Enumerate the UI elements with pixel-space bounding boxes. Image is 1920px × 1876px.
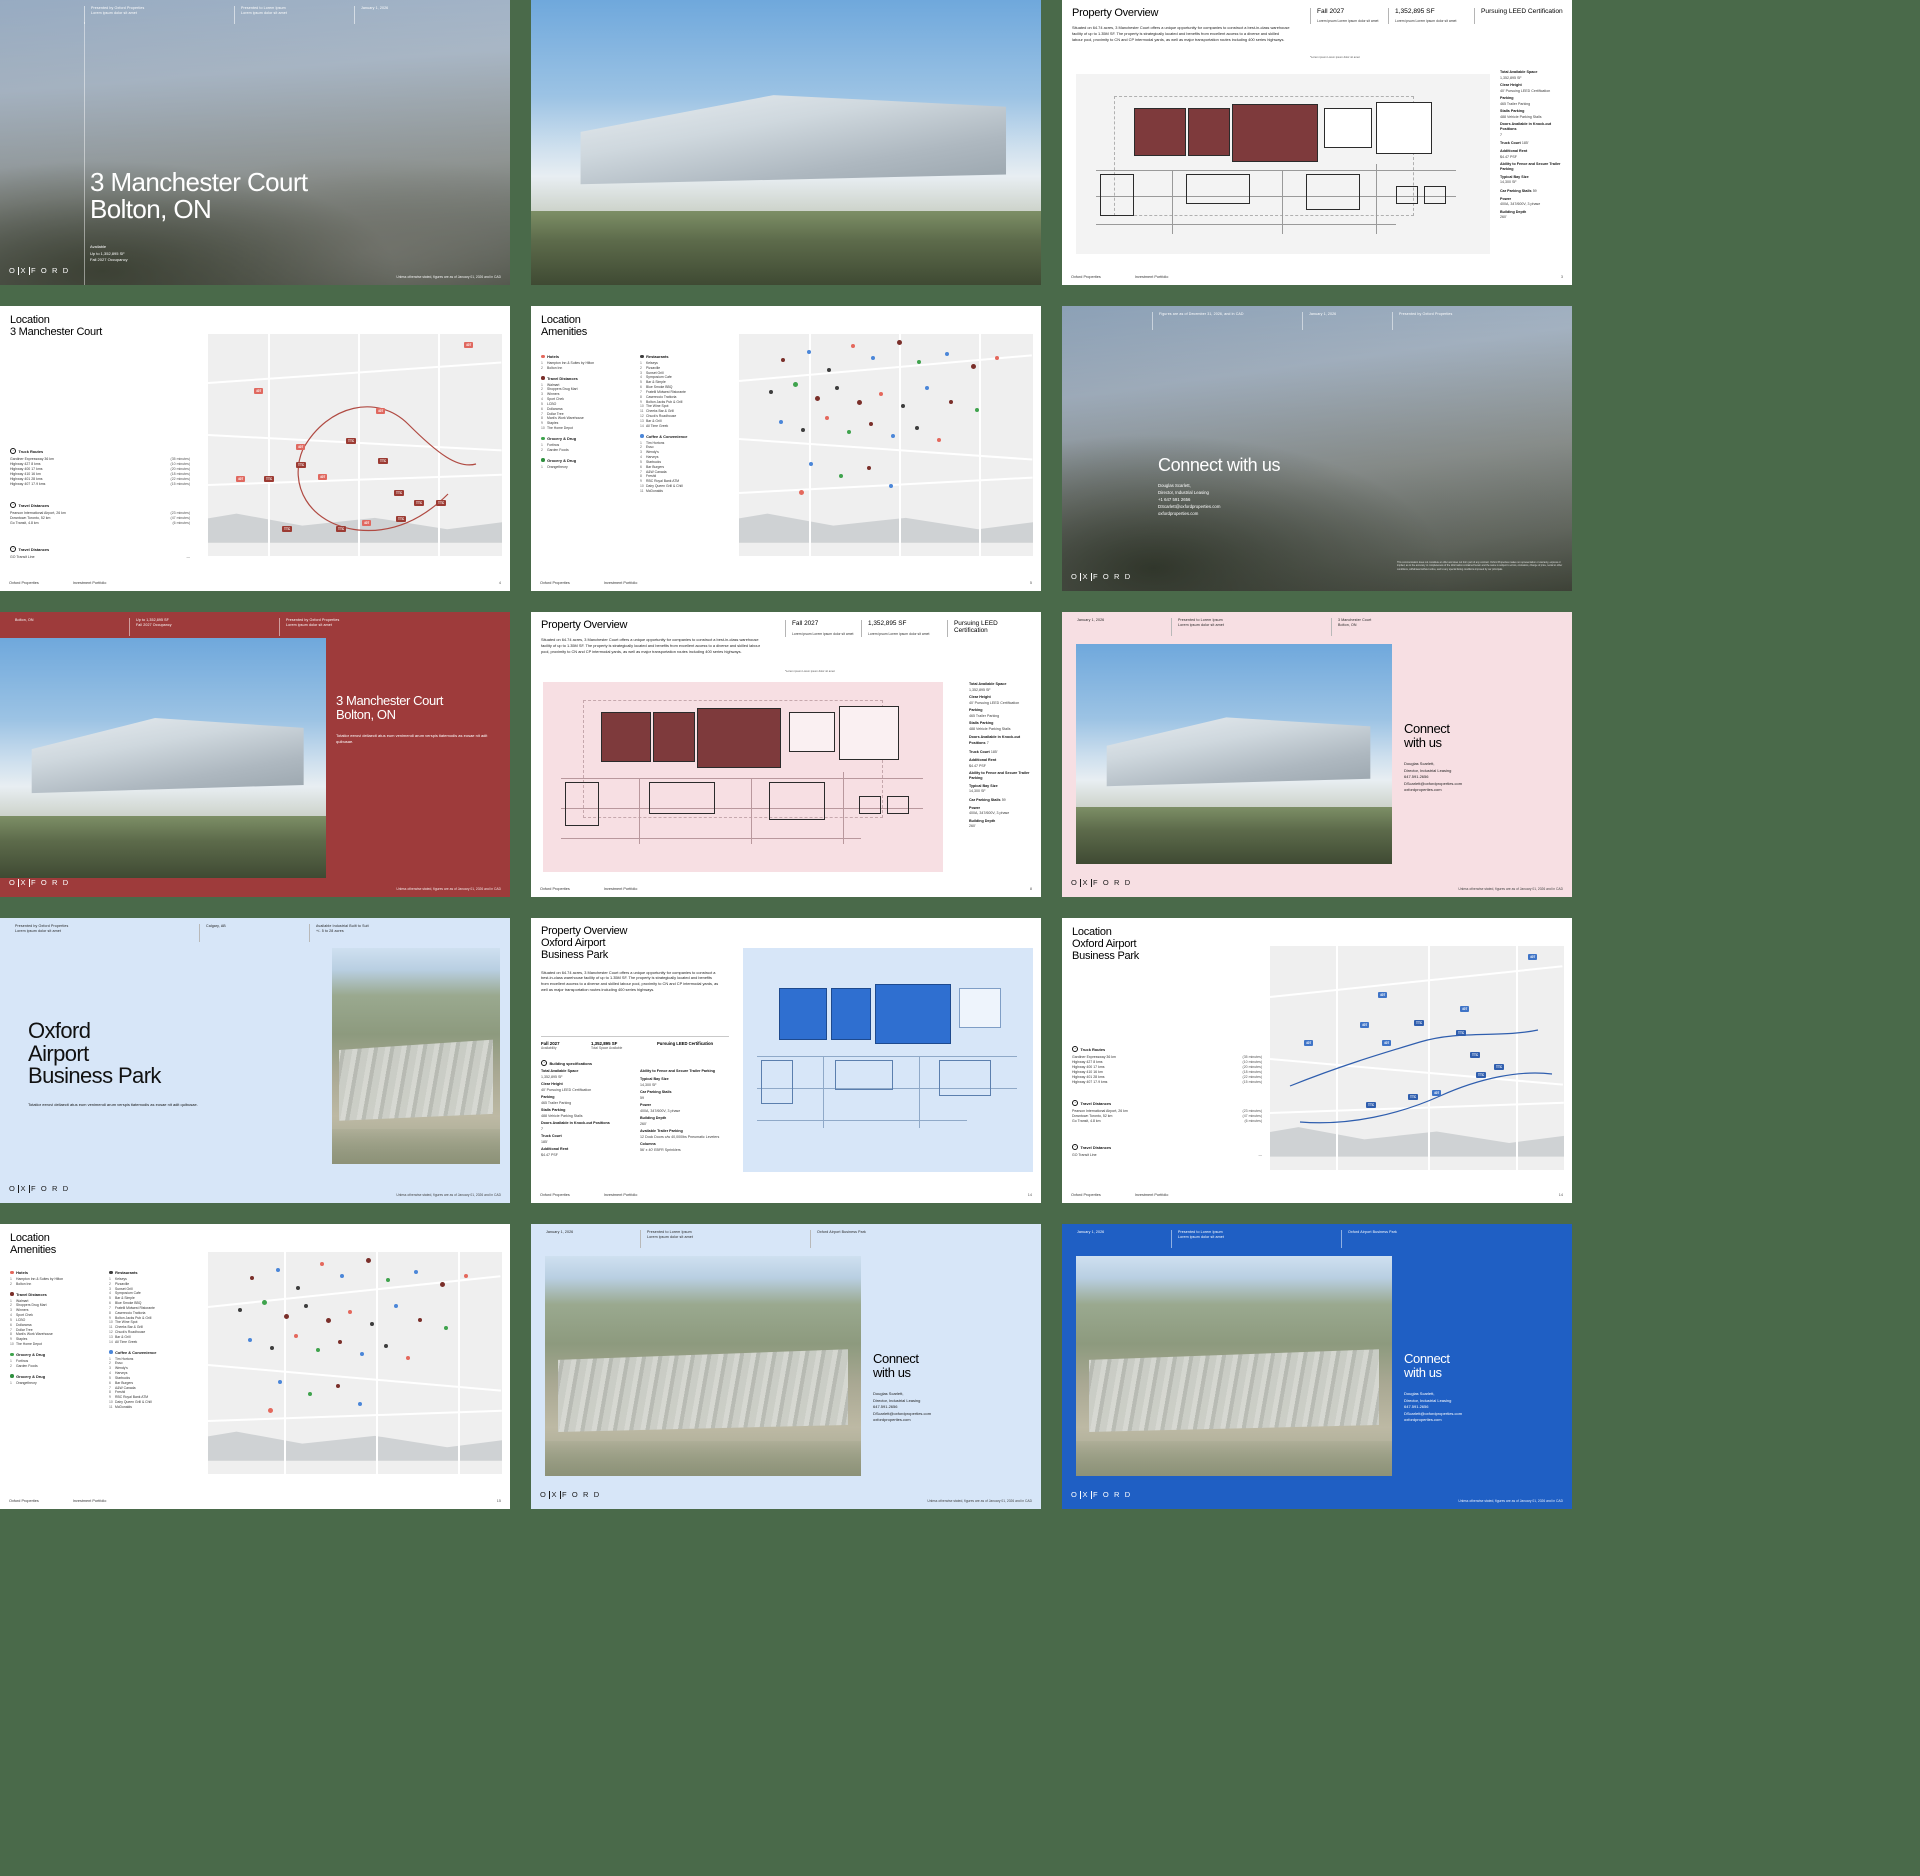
spec-value: 40' Pursuing LEED Certification xyxy=(541,1088,591,1092)
badge-ttc: TTC xyxy=(296,462,306,468)
route-name: GO Transit Line xyxy=(1072,1153,1097,1158)
amenity-map-dot[interactable] xyxy=(945,352,949,356)
amenity-map-dot[interactable] xyxy=(807,350,811,354)
spec-label: Doors Available in Knock-out Positions xyxy=(541,1121,632,1126)
legend-item-label: All Time Greek xyxy=(115,1340,137,1345)
spec-item: Parking465 Trailer Parking xyxy=(1500,96,1564,106)
slide-location-manchester[interactable]: Location 3 Manchester Court 407 407 407 … xyxy=(0,306,510,591)
amenity-map-dot[interactable] xyxy=(348,1310,352,1314)
legend-group-heading: Coffee & Convenience xyxy=(640,434,731,439)
spec-item: Typical Bay Size14,300 SF xyxy=(969,784,1033,794)
location-map[interactable]: 407 407 407 407 TTC TTC TTC 407 TTC 407 … xyxy=(208,334,502,556)
amenity-map-dot[interactable] xyxy=(937,438,941,442)
stat-footnote: *Lorem ipsum Lorem ipsum dolor sit amet xyxy=(1310,56,1360,59)
connect-title-line2: with us xyxy=(1404,736,1562,750)
badge-ttc: TTC xyxy=(414,500,424,506)
amenity-map-dot[interactable] xyxy=(995,356,999,360)
slide-grid: Presented by Oxford Properties Lorem ips… xyxy=(0,0,1920,1509)
route-time: (15 minutes) xyxy=(171,482,190,487)
badge-407: 407 xyxy=(1304,1040,1313,1046)
amenity-map-dot[interactable] xyxy=(248,1338,252,1342)
badge-407: 407 xyxy=(1528,954,1537,960)
legend-group-heading: Travel Distances xyxy=(10,1292,101,1297)
location-map[interactable]: 407 407 407 407 TTC TTC 407 407 TTC TTC … xyxy=(1270,946,1564,1170)
spec-label: Columns xyxy=(640,1142,731,1147)
amenity-map-dot[interactable] xyxy=(799,490,804,495)
legend-group-heading: Restaurants xyxy=(640,354,731,359)
spec-item: Columns56' x 40' EBFR Sprinklers xyxy=(640,1142,731,1152)
amenities-map[interactable] xyxy=(739,334,1033,556)
travel-distances-heading: → Travel Distances xyxy=(10,502,190,508)
badge-ttc: TTC xyxy=(396,516,406,522)
amenity-map-dot[interactable] xyxy=(250,1276,254,1280)
badge-407: 407 xyxy=(254,388,263,394)
legend-color-dot xyxy=(640,355,644,359)
route-time: — xyxy=(1259,1153,1263,1158)
badge-ttc: TTC xyxy=(1470,1052,1480,1058)
legend-color-dot xyxy=(541,458,545,462)
amenities-map[interactable] xyxy=(208,1252,502,1474)
property-tagline: Totatior eerovi deliaecti atus eum venim… xyxy=(336,733,500,745)
amenities-legend: Hotels1Hampton Inn & Suites by Hilton2Bo… xyxy=(541,354,731,499)
legend-item: 2Garden Foods xyxy=(10,1364,101,1369)
property-title-line1: 3 Manchester Court xyxy=(336,694,500,708)
legend-group: Coffee & Convenience1Tim Hortons2Esso3We… xyxy=(640,434,731,494)
spec-item: Total Available Space1,352,895 SF xyxy=(1500,70,1564,80)
slide-oxford-park-overview[interactable]: Property Overview Oxford Airport Busines… xyxy=(531,918,1041,1203)
slide-connect-hero[interactable]: Figures are as of December 31, 2026, and… xyxy=(1062,306,1572,591)
spec-item: Typical Bay Size14,300 SF xyxy=(1500,175,1564,185)
floorplan-diagram[interactable] xyxy=(743,948,1033,1172)
stat-leed-value: Pursuing LEED Certification xyxy=(1481,8,1564,15)
stat-leed: Pursuing LEED Certification xyxy=(947,620,1033,637)
badge-ttc: TTC xyxy=(346,438,356,444)
amenity-map-dot[interactable] xyxy=(386,1278,390,1282)
header-park: Oxford Airport Business Park xyxy=(1348,1230,1397,1235)
slide-footer: Oxford Properties Investment Portfolio 1… xyxy=(1071,1193,1563,1197)
badge-407: 407 xyxy=(1382,1040,1391,1046)
park-stat-row: Fall 2027 Availability 1,352,895 SF Tota… xyxy=(541,1036,729,1050)
oxford-logo[interactable]: OXF O R D xyxy=(1071,1490,1132,1499)
contact-role: Director, Industrial Leasing xyxy=(1158,490,1280,497)
spec-value: 260' xyxy=(640,1122,647,1126)
floorplan-diagram[interactable] xyxy=(543,682,943,872)
spec-label: Building Depth xyxy=(640,1116,731,1121)
badge-ttc: TTC xyxy=(336,526,346,532)
spec-item: Additional Rent$4.47 PSF xyxy=(1500,149,1564,159)
property-title-line2: Bolton, ON xyxy=(90,196,308,223)
amenity-map-dot[interactable] xyxy=(440,1282,445,1287)
park-title-line1: Oxford xyxy=(28,1020,318,1043)
legend-color-dot xyxy=(10,1353,14,1357)
amenity-map-dot[interactable] xyxy=(809,462,813,466)
amenity-map-dot[interactable] xyxy=(406,1356,410,1360)
slide-header: January 1, 2026 Presented to Lorem Ipsum… xyxy=(1071,618,1563,636)
spec-label: Total Available Space xyxy=(541,1069,632,1074)
spec-label: Parking xyxy=(541,1095,632,1100)
spec-item: Doors Available in Knock-out Positions 7 xyxy=(969,734,1033,746)
floorplan-diagram[interactable] xyxy=(1076,74,1490,254)
legend-group: Restaurants1Kelseys2Pizzaville3Sunset Gr… xyxy=(109,1270,200,1345)
presented-by-sub: Lorem ipsum dolor sit amet xyxy=(15,929,193,934)
spec-value: 465 Trailer Parking xyxy=(541,1101,571,1105)
amenity-map-dot[interactable] xyxy=(857,400,862,405)
badge-ttc: TTC xyxy=(1408,1094,1418,1100)
slide-date: January 1, 2026 xyxy=(1077,618,1165,623)
overview-body: Situated on 64.74 acres, 3 Manchester Co… xyxy=(1072,25,1290,43)
amenity-map-dot[interactable] xyxy=(925,386,929,390)
slide-header: Bolton, ON Up to 1,352,895 SF Fall 2027 … xyxy=(9,618,501,636)
spec-item: Ability to Fence and Secure Trailer Park… xyxy=(969,771,1033,781)
amenity-map-dot[interactable] xyxy=(238,1308,242,1312)
legend-group-label: Coffee & Convenience xyxy=(115,1350,156,1355)
map-water xyxy=(739,507,1033,543)
legend-item: 10The Home Depot xyxy=(10,1342,101,1347)
amenity-map-dot[interactable] xyxy=(360,1352,364,1356)
legend-group-heading: Restaurants xyxy=(109,1270,200,1275)
aerial-photo xyxy=(332,948,500,1164)
page-subtitle-1: Oxford Airport xyxy=(541,938,731,950)
slide-property-overview-pink[interactable]: Property Overview Situated on 64.74 acre… xyxy=(531,612,1041,897)
amenity-map-dot[interactable] xyxy=(384,1344,388,1348)
legend-group-heading: Grocery & Drug xyxy=(541,458,632,463)
legend-item-label: The Home Depot xyxy=(16,1342,42,1347)
badge-ttc: TTC xyxy=(1456,1030,1466,1036)
amenity-map-dot[interactable] xyxy=(304,1304,308,1308)
contact-name: Douglas Scarlett, xyxy=(1158,483,1280,490)
legend-item-label: Bolton Inn xyxy=(547,366,562,371)
legend-color-dot xyxy=(541,355,545,359)
slide-property-overview-white[interactable]: Property Overview Situated on 64.74 acre… xyxy=(1062,0,1572,285)
slide-oxford-park-connect-blue[interactable]: January 1, 2026 Presented to Lorem Ipsum… xyxy=(1062,1224,1572,1509)
contact-website[interactable]: oxfordproperties.com xyxy=(1404,1417,1562,1423)
spec-item: Building Depth260' xyxy=(969,819,1033,829)
legend-item: 11McDonalds xyxy=(640,489,731,494)
slide-connect-pink[interactable]: January 1, 2026 Presented to Lorem Ipsum… xyxy=(1062,612,1572,897)
amenity-map-dot[interactable] xyxy=(891,434,895,438)
spec-item: Parking465 Trailer Parking xyxy=(969,708,1033,718)
amenity-map-dot[interactable] xyxy=(949,400,953,404)
connect-title-line1: Connect xyxy=(873,1352,1031,1366)
amenity-map-dot[interactable] xyxy=(851,344,855,348)
slide-date: January 1, 2026 xyxy=(1077,1230,1165,1235)
amenity-map-dot[interactable] xyxy=(871,356,875,360)
spec-list: Total Available Space1,352,895 SF Clear … xyxy=(969,682,1033,832)
amenity-map-dot[interactable] xyxy=(308,1392,312,1396)
legend-group-label: Grocery & Drug xyxy=(547,436,576,441)
slide-oxford-park-location[interactable]: Location Oxford Airport Business Park 40… xyxy=(1062,918,1572,1203)
oxford-logo[interactable]: OXF O R D xyxy=(1071,878,1132,887)
page-subtitle-1: Oxford Airport xyxy=(1072,939,1139,951)
legend-color-dot xyxy=(10,1292,14,1296)
amenity-map-dot[interactable] xyxy=(414,1270,418,1274)
connect-title-line1: Connect xyxy=(1404,722,1562,736)
badge-ttc: TTC xyxy=(1366,1102,1376,1108)
amenity-map-dot[interactable] xyxy=(262,1300,267,1305)
amenity-map-dot[interactable] xyxy=(338,1340,342,1344)
route-row: GO Transit Line— xyxy=(10,555,190,560)
amenity-map-dot[interactable] xyxy=(827,368,831,372)
spec-item: Truck Court 185' xyxy=(1500,140,1564,146)
legend-item-label: Garden Foods xyxy=(547,448,569,453)
amenity-map-dot[interactable] xyxy=(294,1334,298,1338)
legend-group-label: Grocery & Drug xyxy=(547,458,576,463)
legend-item: 2Bolton Inn xyxy=(10,1282,101,1287)
legend-group: Grocery & Drug1Fortinos2Garden Foods xyxy=(10,1352,101,1369)
amenity-map-dot[interactable] xyxy=(444,1326,448,1330)
amenity-map-dot[interactable] xyxy=(326,1318,331,1323)
connect-title: Connect with us xyxy=(1158,456,1280,475)
figures-note: Figures are as of December 31, 2026, and… xyxy=(1159,312,1296,317)
spec-value: 56' x 40' EBFR Sprinklers xyxy=(640,1148,681,1152)
amenity-map-dot[interactable] xyxy=(835,386,839,390)
legend-group-label: Travel Distances xyxy=(547,376,578,381)
amenity-map-dot[interactable] xyxy=(418,1318,422,1322)
amenity-map-dot[interactable] xyxy=(847,430,851,434)
slide-footer: Oxford Properties Investment Portfolio 4 xyxy=(9,581,501,585)
contact-website[interactable]: oxfordproperties.com xyxy=(1158,511,1280,518)
building-spec-block: → Building specifications Total Availabl… xyxy=(541,1060,731,1160)
header-occupancy: Fall 2027 Occupancy xyxy=(136,623,273,628)
amenity-map-dot[interactable] xyxy=(801,428,805,432)
badge-407: 407 xyxy=(236,476,245,482)
amenity-map-dot[interactable] xyxy=(278,1380,282,1384)
amenity-map-dot[interactable] xyxy=(769,390,773,394)
page-title: Property Overview xyxy=(1072,8,1302,20)
oxford-logo[interactable]: OXF O R D xyxy=(1071,572,1132,581)
amenity-map-dot[interactable] xyxy=(869,422,873,426)
spec-item: Car Parking Stalls59 xyxy=(640,1090,731,1100)
slide-oxford-park-connect-light[interactable]: January 1, 2026 Presented to Lorem Ipsum… xyxy=(531,1224,1041,1509)
spec-label: Power xyxy=(640,1103,731,1108)
spec-item: Truck Court185' xyxy=(541,1134,632,1144)
spec-item: Car Parking Stalls 59 xyxy=(1500,188,1564,194)
amenity-map-dot[interactable] xyxy=(975,408,979,412)
spec-label: Clear Height xyxy=(541,1082,632,1087)
legend-item-label: Garden Foods xyxy=(16,1364,38,1369)
amenity-map-dot[interactable] xyxy=(340,1274,344,1278)
arrow-right-icon: → xyxy=(10,502,16,508)
arrow-right-icon: → xyxy=(10,546,16,552)
disclaimer: Unless otherwise stated, figures are as … xyxy=(927,1499,1032,1503)
legend-group-heading: Hotels xyxy=(541,354,632,359)
spec-label: Typical Bay Size xyxy=(640,1077,731,1082)
slide-header: Presented by Oxford Properties Lorem ips… xyxy=(84,6,501,24)
amenity-map-dot[interactable] xyxy=(793,382,798,387)
amenity-map-dot[interactable] xyxy=(268,1408,273,1413)
presented-to-sub: Lorem ipsum dolor sit amet xyxy=(241,11,348,16)
travel-distances-block: → Travel Distances Pearson International… xyxy=(10,502,190,526)
spec-item: Total Available Space1,352,895 SF xyxy=(969,682,1033,692)
slide-date: January 1, 2026 xyxy=(546,1230,634,1235)
oxford-logo[interactable]: OXF O R D xyxy=(9,878,70,887)
stat-space: 1,352,895 SF Lorem ipsum Lorem ipsum dol… xyxy=(861,620,947,637)
legend-group-heading: Grocery & Drug xyxy=(10,1352,101,1357)
route-name: GO Transit Line xyxy=(10,555,35,560)
slide-location-amenities[interactable]: Location Amenities Hotels1Hampton Inn & … xyxy=(531,306,1041,591)
amenity-map-dot[interactable] xyxy=(366,1258,371,1263)
spec-item: Clear Height40' Pursuing LEED Certificat… xyxy=(541,1082,632,1092)
contact-email[interactable]: DScarlett@oxfordproperties.com xyxy=(1158,504,1280,511)
oxford-logo[interactable]: OXF O R D xyxy=(9,266,70,275)
spec-item: Ability to Fence and Secure Trailer Park… xyxy=(1500,162,1564,172)
occupancy: Fall 2027 Occupancy xyxy=(90,257,128,263)
amenity-map-dot[interactable] xyxy=(897,340,902,345)
travel-distances-block: → Travel Distances Pearson International… xyxy=(1072,1100,1262,1124)
amenity-map-dot[interactable] xyxy=(839,474,843,478)
stat-availability: Fall 2027 Lorem ipsum Lorem ipsum dolor … xyxy=(1310,8,1388,24)
connect-scrim xyxy=(1062,306,1572,591)
stat-leed: Pursuing LEED Certification xyxy=(1474,8,1564,24)
amenity-map-dot[interactable] xyxy=(320,1262,324,1266)
legend-color-dot xyxy=(541,437,545,441)
aerial-photo xyxy=(545,1256,861,1476)
legend-color-dot xyxy=(541,376,545,380)
spec-item: Clear Height40' Pursuing LEED Certificat… xyxy=(1500,83,1564,93)
slide-date: January 1, 2026 xyxy=(1309,312,1386,317)
slide-oxford-park-title[interactable]: Presented by Oxford Properties Lorem ips… xyxy=(0,918,510,1203)
spec-item: Typical Bay Size14,300 SF xyxy=(640,1077,731,1087)
spec-item: Car Parking Stalls 59 xyxy=(969,797,1033,803)
route-time: (15 minutes) xyxy=(1243,1080,1262,1085)
amenity-map-dot[interactable] xyxy=(901,404,905,408)
stat-space: 1,352,895 SF Lorem ipsum Lorem ipsum dol… xyxy=(1388,8,1474,24)
legend-item: 1Orangetheory xyxy=(541,465,632,470)
badge-ttc: TTC xyxy=(378,458,388,464)
presented-by-sub: Lorem ipsum dolor sit amet xyxy=(286,623,339,628)
slide-oxford-park-amenities[interactable]: Location Amenities Hotels1Hampton Inn & … xyxy=(0,1224,510,1509)
route-name: Highway 407 17.9 kms xyxy=(10,482,45,487)
badge-407: 407 xyxy=(296,444,305,450)
amenity-map-dot[interactable] xyxy=(276,1268,280,1272)
route-row: Go Transit, 4.8 km(6 minutes) xyxy=(10,521,190,526)
slide-footer: Oxford Properties Investment Portfolio 1… xyxy=(540,1193,1032,1197)
presented-to-sub: Lorem ipsum dolor sit amet xyxy=(1178,1235,1335,1240)
page-subtitle: 3 Manchester Court xyxy=(10,327,102,339)
disclaimer: Unless otherwise stated, figures are as … xyxy=(1458,887,1563,891)
spec-item: Stalls Parking488 Vehicle Parking Stalls xyxy=(969,721,1033,731)
spec-item: Building Depth260' xyxy=(1500,210,1564,220)
slide-date: January 1, 2026 xyxy=(361,6,388,11)
spec-item: Doors Available in Knock-out Positions7 xyxy=(1500,122,1564,137)
spec-item: Additional Rent$4.47 PSF xyxy=(541,1147,632,1157)
legend-group: Travel Distances1Walmart2Shoppers Drug M… xyxy=(541,376,632,431)
arrow-right-icon: → xyxy=(10,448,16,454)
route-path xyxy=(208,334,502,556)
amenity-map-dot[interactable] xyxy=(917,360,921,364)
amenity-map-dot[interactable] xyxy=(815,396,820,401)
spec-value: 14,300 SF xyxy=(640,1083,657,1087)
legend-group: Restaurants1Kelseys2Pizzaville3Sunset Gr… xyxy=(640,354,731,429)
spec-item: Stalls Parking488 Vehicle Parking Stalls xyxy=(541,1108,632,1118)
slide-exterior-render[interactable] xyxy=(531,0,1041,285)
spec-item: Total Available Space1,352,895 SF xyxy=(541,1069,632,1079)
transit-block: → Travel Distances GO Transit Line— xyxy=(10,546,190,560)
badge-407: 407 xyxy=(376,408,385,414)
stat-availability-value: Fall 2027 xyxy=(1317,8,1388,15)
overview-body: Situated on 64.74 acres, 3 Manchester Co… xyxy=(541,970,719,993)
contact-phone[interactable]: +1 647 591 2656 xyxy=(1158,497,1280,504)
disclaimer: Unless otherwise stated, figures are as … xyxy=(396,1193,501,1197)
amenity-map-dot[interactable] xyxy=(394,1304,398,1308)
amenity-map-dot[interactable] xyxy=(915,426,919,430)
stat-space-sub: Lorem ipsum Lorem ipsum dolor sit amet xyxy=(1395,19,1474,24)
legend-group: Grocery & Drug1Orangetheory xyxy=(541,458,632,470)
amenity-map-dot[interactable] xyxy=(296,1286,300,1290)
amenity-map-dot[interactable] xyxy=(284,1314,289,1319)
legend-group-label: Grocery & Drug xyxy=(16,1352,45,1357)
amenity-map-dot[interactable] xyxy=(358,1402,362,1406)
legend-item: 2Bolton Inn xyxy=(541,366,632,371)
route-name: Go Transit, 4.8 km xyxy=(10,521,39,526)
stat-footnote: *Lorem ipsum Lorem ipsum dolor sit amet xyxy=(785,670,835,673)
stat-space-value: 1,352,895 SF xyxy=(1395,8,1474,15)
badge-407: 407 xyxy=(464,342,473,348)
legend-group-heading: Travel Distances xyxy=(541,376,632,381)
connect-title-line1: Connect xyxy=(1404,1352,1562,1366)
connect-title-line2: with us xyxy=(873,1366,1031,1380)
footer-right: Investment Portfolio xyxy=(1135,275,1169,279)
spec-item: Stalls Parking488 Vehicle Parking Stalls xyxy=(1500,109,1564,119)
legend-group-label: Grocery & Drug xyxy=(16,1374,45,1379)
badge-ttc: TTC xyxy=(264,476,274,482)
amenity-map-dot[interactable] xyxy=(779,420,783,424)
header-city: Calgary, AB xyxy=(206,924,303,929)
slide-header: Presented by Oxford Properties Lorem ips… xyxy=(9,924,501,942)
amenity-map-dot[interactable] xyxy=(889,484,893,488)
legend-group-label: Restaurants xyxy=(115,1270,138,1275)
slide-header: January 1, 2026 Presented to Lorem Ipsum… xyxy=(540,1230,1032,1248)
route-time: (6 minutes) xyxy=(172,521,190,526)
slide-footer: Oxford Properties Investment Portfolio 5 xyxy=(540,581,1032,585)
legend-color-dot xyxy=(10,1374,14,1378)
render-photo xyxy=(1076,644,1392,864)
amenity-map-dot[interactable] xyxy=(370,1322,374,1326)
truck-routes-block: → Truck Routes Gardiner Expressway 36 km… xyxy=(10,448,190,487)
legend-item-label: McDonalds xyxy=(646,489,663,494)
amenity-map-dot[interactable] xyxy=(879,392,883,396)
slide-title-render-red[interactable]: Bolton, ON Up to 1,352,895 SF Fall 2027 … xyxy=(0,612,510,897)
amenity-map-dot[interactable] xyxy=(867,466,871,470)
legend-group: Grocery & Drug1Orangetheory xyxy=(10,1374,101,1386)
amenity-map-dot[interactable] xyxy=(971,364,976,369)
legend-group-label: Hotels xyxy=(547,354,559,359)
oxford-logo[interactable]: OXF O R D xyxy=(9,1184,70,1193)
disclaimer: Unless otherwise stated, figures are as … xyxy=(396,887,501,891)
amenity-map-dot[interactable] xyxy=(336,1384,340,1388)
legend-group: Grocery & Drug1Fortinos2Garden Foods xyxy=(541,436,632,453)
amenity-map-dot[interactable] xyxy=(825,416,829,420)
legend-color-dot xyxy=(640,434,644,438)
spec-item: Ability to Fence and Secure Trailer Park… xyxy=(640,1069,731,1074)
route-time: — xyxy=(187,555,191,560)
header-city: Bolton, ON xyxy=(15,618,123,623)
contact-website[interactable]: oxfordproperties.com xyxy=(1404,787,1562,793)
property-title-line2: Bolton, ON xyxy=(336,708,500,722)
amenity-map-dot[interactable] xyxy=(781,358,785,362)
oxford-logo[interactable]: OXF O R D xyxy=(540,1490,601,1499)
spec-item: Power400A, 347/600V, 3 phase xyxy=(969,806,1033,816)
amenities-legend: Hotels1Hampton Inn & Suites by Hilton2Bo… xyxy=(10,1270,200,1415)
legend-item: 11McDonalds xyxy=(109,1405,200,1410)
badge-ttc: TTC xyxy=(394,490,404,496)
amenity-map-dot[interactable] xyxy=(316,1348,320,1352)
route-time: (6 minutes) xyxy=(1244,1119,1262,1124)
slide-title-hero[interactable]: Presented by Oxford Properties Lorem ips… xyxy=(0,0,510,285)
contact-website[interactable]: oxfordproperties.com xyxy=(873,1417,1031,1423)
amenity-map-dot[interactable] xyxy=(464,1274,468,1278)
amenity-map-dot[interactable] xyxy=(270,1346,274,1350)
